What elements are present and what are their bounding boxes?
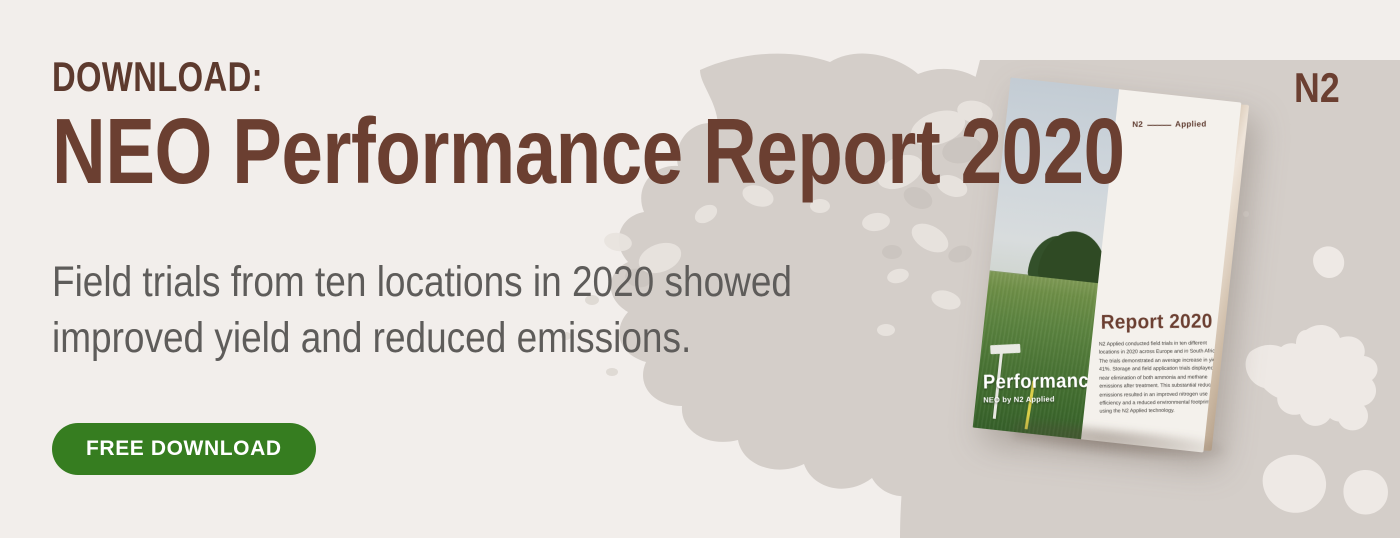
eyebrow-label: DOWNLOAD: [52, 56, 760, 98]
subheadline: Field trials from ten locations in 2020 … [52, 255, 833, 367]
cover-heading: Report 2020 [1101, 311, 1213, 332]
subheadline-line-1: Field trials from ten locations in 2020 … [52, 258, 792, 306]
page-title: NEO Performance Report 2020 [52, 104, 778, 199]
subheadline-line-2: improved yield and reduced emissions. [52, 311, 833, 367]
free-download-button[interactable]: FREE DOWNLOAD [52, 423, 316, 475]
banner-content: DOWNLOAD: NEO Performance Report 2020 Fi… [0, 0, 960, 538]
cover-logo-applied: Applied [1175, 120, 1206, 128]
cover-n2-applied-logo: N2 Applied [1133, 120, 1207, 128]
download-banner: DOWNLOAD: NEO Performance Report 2020 Fi… [0, 0, 1400, 538]
cta-container: FREE DOWNLOAD [52, 423, 960, 475]
cover-logo-rule-icon [1147, 124, 1171, 125]
n2-logo: N2 [1294, 67, 1340, 109]
cover-logo-n2: N2 [1133, 121, 1144, 129]
photo-grass-field [973, 272, 1098, 439]
cover-title: Performance [982, 371, 1099, 393]
